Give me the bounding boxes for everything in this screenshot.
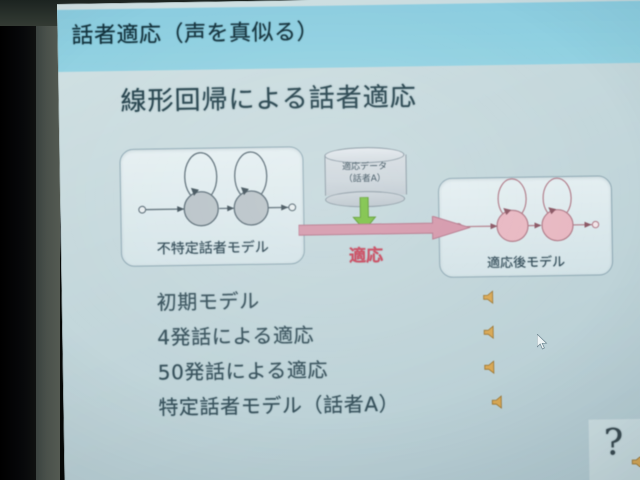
pink-right-arrow-icon [298,216,470,243]
right-box-label: 適応後モデル [440,250,612,272]
screen-bezel-left [0,0,38,480]
presentation-slide: 話者適応（声を真似る） 線形回帰による話者適応 [57,0,640,480]
cylinder-text: 適応データ （話者A） [325,161,405,187]
speaker-icon[interactable] [483,360,498,374]
slide-heading: 線形回帰による話者適応 [120,76,417,118]
model-list: 初期モデル 4発話による適応 50発話による適応 特定話者モデル（話者A） [156,280,578,427]
speaker-icon[interactable] [482,325,497,339]
cylinder-line-2: （話者A） [325,173,405,186]
adaptation-data-cylinder: 適応データ （話者A） [324,147,405,200]
question-panel[interactable]: ? [589,419,640,480]
speaker-icon[interactable] [490,395,505,409]
screen-frame-post [36,0,60,480]
slide-title: 話者適応（声を真似る） [71,14,319,50]
list-item-label: 特定話者モデル（話者A） [158,388,399,421]
speaker-icon[interactable] [630,455,640,469]
mouse-cursor [537,334,548,350]
list-item-label: 初期モデル [156,285,259,316]
list-item-label: 4発話による適応 [157,319,314,350]
list-item[interactable]: 特定話者モデル（話者A） [158,385,578,427]
left-box-label: 不特定話者モデル [122,236,304,259]
adaptation-arrow-label: 適応 [349,241,383,267]
question-mark: ? [604,422,624,463]
speaker-independent-model-box: 不特定話者モデル [119,146,305,267]
projector-photo-frame: 話者適応（声を真似る） 線形回帰による話者適応 [0,0,640,480]
list-item-label: 50発話による適応 [158,354,329,386]
speaker-icon[interactable] [482,290,497,304]
